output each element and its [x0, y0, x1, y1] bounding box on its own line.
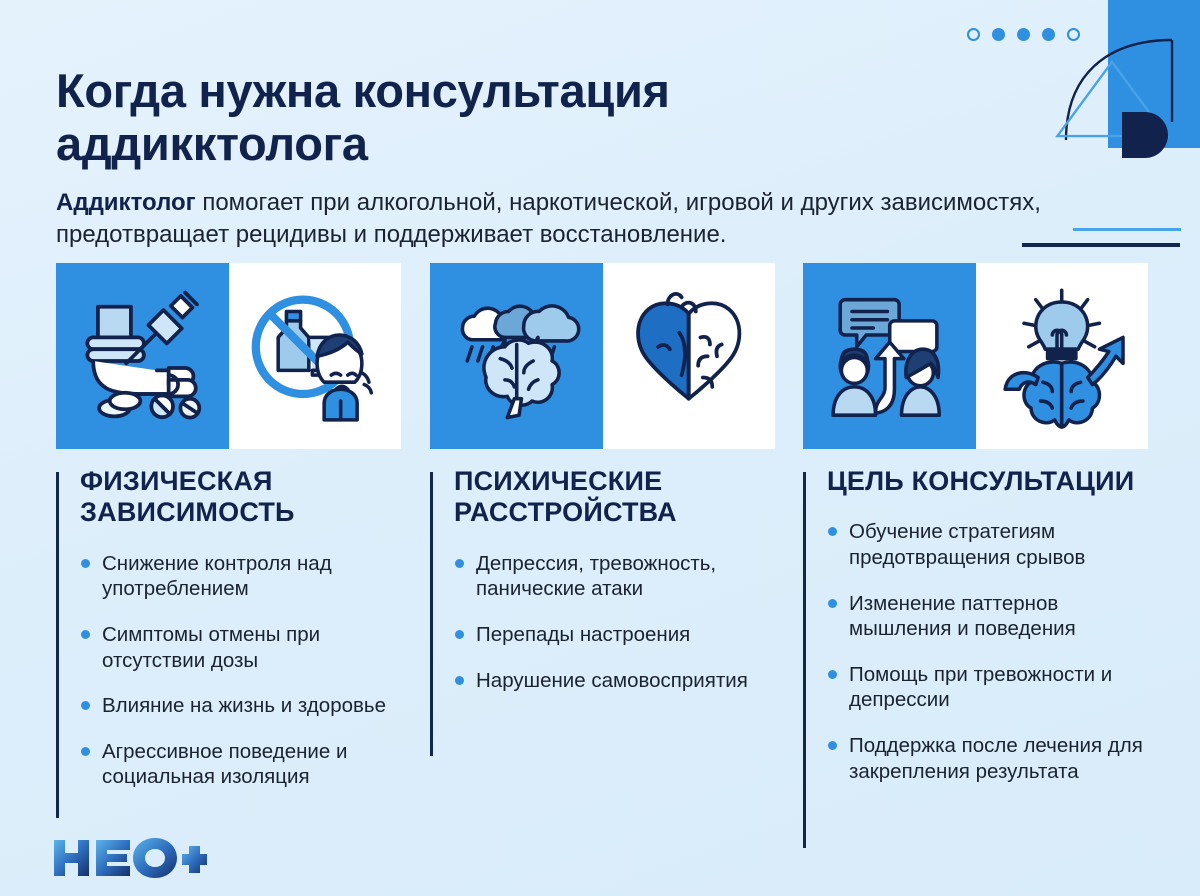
list-item: Агрессивное поведение и социальная изоля…	[80, 739, 406, 790]
brand-logo	[52, 836, 207, 880]
column-list: Депрессия, тревожность, панические атаки…	[454, 551, 780, 694]
decorative-dot	[1042, 28, 1055, 41]
column-physical-dependence: ФИЗИЧЕСКАЯ ЗАВИСИМОСТЬ Снижение контроля…	[56, 466, 406, 818]
icon-strip-mental	[430, 263, 775, 449]
decorative-dot	[967, 28, 980, 41]
list-item: Нарушение самовосприятия	[454, 668, 780, 694]
list-item: Перепады настроения	[454, 622, 780, 648]
list-item: Депрессия, тревожность, панические атаки	[454, 551, 780, 602]
icon-strip-goal	[803, 263, 1148, 449]
column-list: Снижение контроля над употреблением Симп…	[80, 551, 406, 790]
list-item: Помощь при тревожности и депрессии	[827, 662, 1153, 713]
decorative-half-circle	[1122, 112, 1168, 158]
icon-panel-lightbulb-brain	[976, 263, 1149, 449]
subtitle-rest: помогает при алкогольной, наркотической,…	[56, 189, 1041, 248]
list-item: Снижение контроля над употреблением	[80, 551, 406, 602]
icon-panel-no-alcohol	[229, 263, 402, 449]
list-item: Изменение паттернов мышления и поведения	[827, 591, 1153, 642]
list-item: Влияние на жизнь и здоровье	[80, 693, 406, 719]
list-item: Симптомы отмены при отсутствии дозы	[80, 622, 406, 673]
list-item: Поддержка после лечения для закрепления …	[827, 733, 1153, 784]
icon-panel-heart-brain	[603, 263, 776, 449]
icon-panel-arm-syringe	[56, 263, 229, 449]
people-speech-bubbles-arrow-icon	[819, 280, 960, 433]
heart-brain-icon	[618, 280, 759, 433]
column-mental-disorders: ПСИХИЧЕСКИЕ РАССТРОЙСТВА Депрессия, трев…	[430, 466, 780, 756]
subtitle-lead-word: Аддиктолог	[56, 189, 196, 216]
infographic-page: Когда нужна консультация аддикктолога Ад…	[0, 0, 1200, 896]
lightbulb-brain-arrows-icon	[991, 280, 1132, 433]
icon-panel-storm-brain	[430, 263, 603, 449]
decorative-dot	[992, 28, 1005, 41]
column-heading: ФИЗИЧЕСКАЯ ЗАВИСИМОСТЬ	[80, 466, 406, 529]
column-heading: ЦЕЛЬ КОНСУЛЬТАЦИИ	[827, 466, 1153, 497]
column-consultation-goal: ЦЕЛЬ КОНСУЛЬТАЦИИ Обучение стратегиям пр…	[803, 466, 1153, 848]
decorative-dot	[1017, 28, 1030, 41]
column-list: Обучение стратегиям предотвращения срыво…	[827, 519, 1153, 784]
column-heading: ПСИХИЧЕСКИЕ РАССТРОЙСТВА	[454, 466, 780, 529]
icon-strip-physical	[56, 263, 401, 449]
no-alcohol-sad-person-icon	[244, 280, 385, 433]
arm-syringe-pills-icon	[72, 280, 213, 433]
page-subtitle: Аддиктолог помогает при алкогольной, нар…	[56, 187, 1116, 252]
storm-cloud-brain-icon	[446, 280, 587, 433]
page-title: Когда нужна консультация аддикктолога	[56, 65, 926, 170]
list-item: Обучение стратегиям предотвращения срыво…	[827, 519, 1153, 570]
icon-panel-people-dialog	[803, 263, 976, 449]
